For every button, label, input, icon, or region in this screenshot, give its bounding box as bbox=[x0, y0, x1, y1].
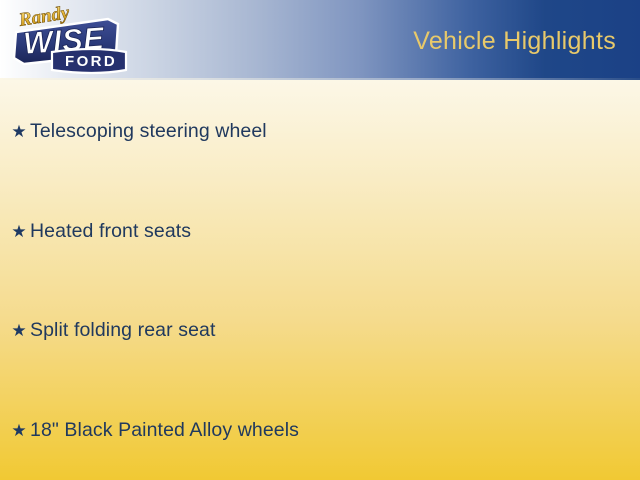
list-item-label: Telescoping steering wheel bbox=[30, 120, 267, 143]
page-title: Vehicle Highlights bbox=[413, 27, 616, 56]
list-item: ★ Heated front seats bbox=[8, 220, 191, 243]
star-icon: ★ bbox=[8, 422, 30, 439]
star-icon: ★ bbox=[8, 223, 30, 240]
list-item: ★ Telescoping steering wheel bbox=[8, 120, 267, 143]
list-item-label: Split folding rear seat bbox=[30, 319, 215, 342]
list-item: ★ 18" Black Painted Alloy wheels bbox=[8, 419, 299, 442]
star-icon: ★ bbox=[8, 123, 30, 140]
header-underline bbox=[0, 78, 640, 80]
logo-ford-text: FORD bbox=[65, 53, 117, 70]
star-icon: ★ bbox=[8, 322, 30, 339]
list-item: ★ Split folding rear seat bbox=[8, 319, 215, 342]
list-item-label: 18" Black Painted Alloy wheels bbox=[30, 419, 299, 442]
randy-wise-ford-logo[interactable]: WISE FORD Randy bbox=[8, 2, 134, 78]
vehicle-highlights-slide: Vehicle Highlights WISE bbox=[0, 0, 640, 480]
list-item-label: Heated front seats bbox=[30, 220, 191, 243]
